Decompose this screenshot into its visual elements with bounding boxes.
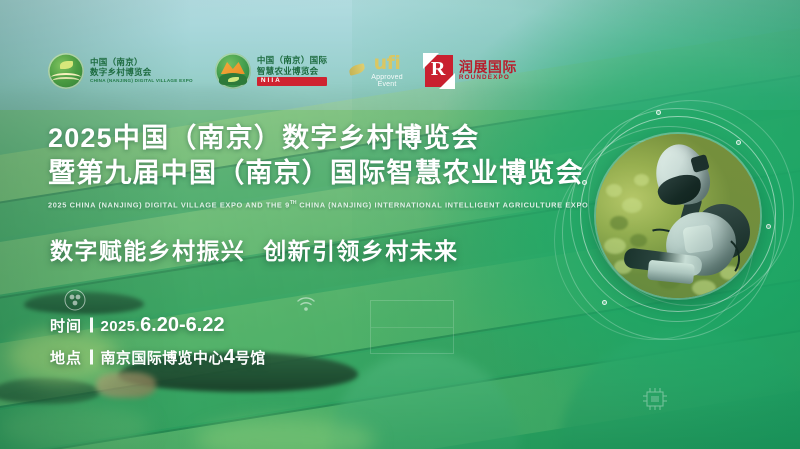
agricultural-robot-photo — [596, 134, 760, 298]
roundexpo-logo[interactable]: R 润展国际 ROUNDEXPO — [425, 50, 517, 92]
roundexpo-cn: 润展国际 — [459, 60, 517, 74]
ufi-sub-line1: Approved — [371, 74, 403, 81]
headline-english: 2025 CHINA (NANJING) DIGITAL VILLAGE EXP… — [48, 200, 568, 209]
slogan: 数字赋能乡村振兴创新引领乡村未来 — [50, 232, 458, 266]
place-divider — [90, 350, 93, 365]
round-green-emblem-icon — [48, 53, 84, 89]
logo1-en: CHINA (NANJING) DIGITAL VILLAGE EXPO — [90, 79, 193, 84]
place-label: 地点 — [50, 347, 82, 368]
event-place-row: 地点 南京国际博览中心4号馆 — [50, 346, 266, 369]
place-venue: 南京国际博览中心 — [101, 350, 224, 367]
roundexpo-r-icon: R — [425, 55, 453, 87]
roundexpo-en: ROUNDEXPO — [459, 75, 517, 81]
robot-orb-graphic — [560, 96, 800, 346]
time-divider — [90, 318, 93, 333]
headline-line-1: 2025中国（南京）数字乡村博览会 — [48, 121, 568, 156]
ufi-sub-line2: Event — [378, 81, 397, 88]
event-time-row: 时间 2025.6.20-6.22 — [50, 314, 266, 337]
orbit-dot-e — [602, 300, 607, 305]
place-hall-suffix: 号馆 — [235, 350, 266, 367]
ufi-approved-event-logo[interactable]: ufi Approved Event — [349, 50, 403, 92]
time-dates: 6.20-6.22 — [140, 314, 225, 336]
ufi-wordmark: ufi — [374, 54, 401, 74]
orbit-dot-b — [656, 110, 661, 115]
event-info-block: 时间 2025.6.20-6.22 地点 南京国际博览中心4号馆 — [50, 314, 266, 378]
time-year-prefix: 2025. — [101, 318, 141, 335]
place-value: 南京国际博览中心4号馆 — [101, 346, 266, 369]
headline-english-pre: 2025 CHINA (NANJING) DIGITAL VILLAGE EXP… — [48, 200, 290, 209]
digital-village-expo-logo[interactable]: 中国（南京） 数字乡村博览会 CHINA (NANJING) DIGITAL V… — [48, 50, 193, 92]
expo-banner: 中国（南京） 数字乡村博览会 CHINA (NANJING) DIGITAL V… — [0, 0, 800, 449]
ufi-swoosh-icon — [349, 60, 365, 82]
logo2-cn-line2: 智慧农业博览会 — [257, 67, 327, 76]
time-value: 2025.6.20-6.22 — [101, 314, 225, 337]
njia-logo[interactable]: 中国（南京）国际 智慧农业博览会 NIIA — [215, 50, 327, 92]
orbit-dot-a — [582, 180, 587, 185]
headline-english-post: CHINA (NANJING) INTERNATIONAL INTELLIGEN… — [297, 200, 589, 209]
orbit-dot-d — [766, 224, 771, 229]
logo1-cn-line1: 中国（南京） — [90, 58, 193, 67]
slogan-part-2: 创新引领乡村未来 — [263, 238, 458, 264]
place-hall-number: 4 — [224, 346, 235, 368]
headline-english-ordinal: TH — [290, 200, 297, 206]
slogan-part-1: 数字赋能乡村振兴 — [50, 238, 245, 264]
time-label: 时间 — [50, 315, 82, 336]
logo2-badge: NIIA — [257, 77, 327, 86]
headline-line-2: 暨第九届中国（南京）国际智慧农业博览会 — [48, 156, 568, 191]
mountain-emblem-icon — [215, 53, 251, 89]
orb-color-tint — [596, 134, 760, 298]
logo2-cn-line1: 中国（南京）国际 — [257, 56, 327, 65]
partner-logo-row: 中国（南京） 数字乡村博览会 CHINA (NANJING) DIGITAL V… — [48, 50, 517, 92]
headline-block: 2025中国（南京）数字乡村博览会 暨第九届中国（南京）国际智慧农业博览会 20… — [48, 121, 568, 209]
logo1-cn-line2: 数字乡村博览会 — [90, 68, 193, 77]
crop-field-photo — [596, 134, 760, 298]
